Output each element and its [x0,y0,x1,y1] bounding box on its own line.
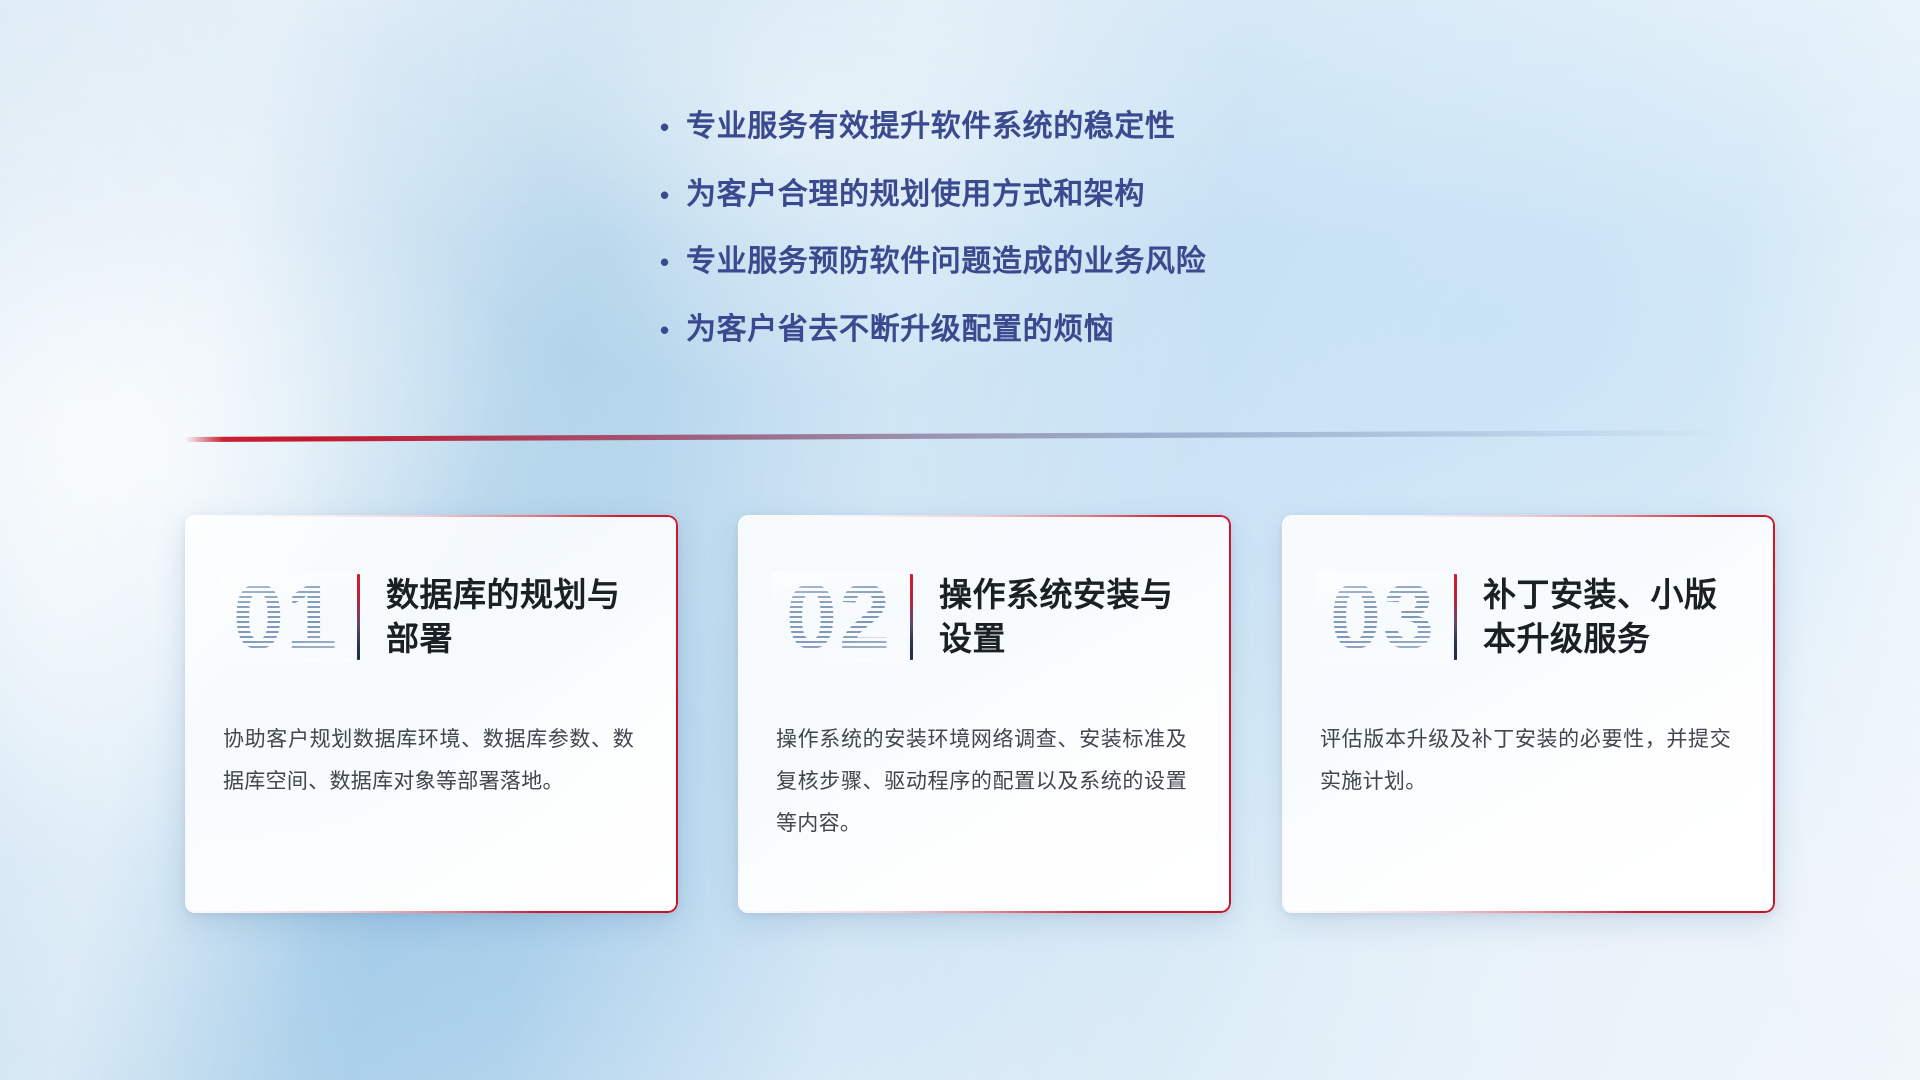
list-item: • 专业服务有效提升软件系统的稳定性 [660,108,1420,146]
card-title: 操作系统安装与设置 [939,573,1191,660]
service-card-01[interactable]: 01 数据库的规划与部署 协助客户规划数据库环境、数据库参数、数据库空间、数据库… [185,515,678,913]
card-body-text: 协助客户规划数据库环境、数据库参数、数据库空间、数据库对象等部署落地。 [223,719,638,803]
card-number: 01 [223,571,349,663]
card-title: 数据库的规划与部署 [386,573,638,660]
card-rule-divider [910,574,913,660]
bullet-text: 专业服务有效提升软件系统的稳定性 [686,108,1420,146]
bullet-list: • 专业服务有效提升软件系统的稳定性 • 为客户合理的规划使用方式和架构 • 专… [660,108,1420,378]
section-divider [185,430,1730,442]
list-item: • 为客户省去不断升级配置的烦恼 [660,311,1420,349]
card-number: 02 [776,571,902,663]
card-header: 02 操作系统安装与设置 [776,553,1191,681]
list-item: • 专业服务预防软件问题造成的业务风险 [660,243,1420,281]
card-header: 03 补丁安装、小版本升级服务 [1320,553,1735,681]
bullet-marker-icon: • [660,114,686,140]
card-body-text: 操作系统的安装环境网络调查、安装标准及复核步骤、驱动程序的配置以及系统的设置等内… [776,719,1191,845]
slide-canvas: • 专业服务有效提升软件系统的稳定性 • 为客户合理的规划使用方式和架构 • 专… [0,0,1920,1080]
card-number: 03 [1320,571,1446,663]
bullet-text: 为客户合理的规划使用方式和架构 [686,176,1420,214]
service-card-02[interactable]: 02 操作系统安装与设置 操作系统的安装环境网络调查、安装标准及复核步骤、驱动程… [738,515,1231,913]
card-rule-divider [357,574,360,660]
card-group: 01 数据库的规划与部署 协助客户规划数据库环境、数据库参数、数据库空间、数据库… [0,515,1920,935]
bullet-marker-icon: • [660,249,686,275]
card-title: 补丁安装、小版本升级服务 [1483,573,1735,660]
bullet-text: 专业服务预防软件问题造成的业务风险 [686,243,1420,281]
bullet-text: 为客户省去不断升级配置的烦恼 [686,311,1420,349]
card-header: 01 数据库的规划与部署 [223,553,638,681]
bullet-marker-icon: • [660,317,686,343]
card-body-text: 评估版本升级及补丁安装的必要性，并提交实施计划。 [1320,719,1735,803]
card-rule-divider [1454,574,1457,660]
divider-bar [185,430,1730,442]
service-card-03[interactable]: 03 补丁安装、小版本升级服务 评估版本升级及补丁安装的必要性，并提交实施计划。 [1282,515,1775,913]
bullet-marker-icon: • [660,182,686,208]
list-item: • 为客户合理的规划使用方式和架构 [660,176,1420,214]
